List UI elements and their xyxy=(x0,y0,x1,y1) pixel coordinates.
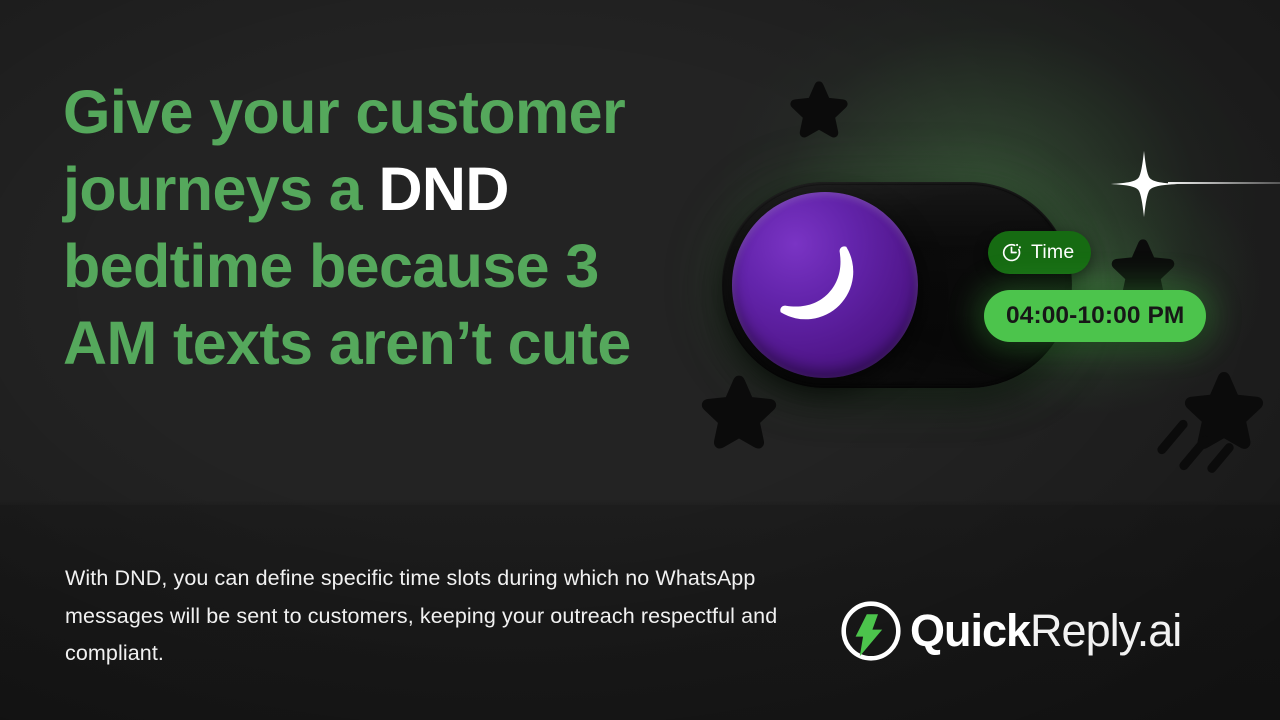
headline-part-2: bedtime because 3 AM texts aren’t cute xyxy=(63,232,631,377)
four-point-sparkle-icon xyxy=(1108,148,1180,220)
dnd-toggle[interactable] xyxy=(722,182,1072,388)
brand-logo[interactable]: QuickReply.ai xyxy=(836,595,1181,667)
brand-name-bold: Quick xyxy=(910,605,1030,657)
page-title: Give your customer journeys a DND bedtim… xyxy=(63,74,703,382)
headline-accent-dnd: DND xyxy=(378,155,508,223)
star-icon xyxy=(789,80,849,138)
shooting-star-icon xyxy=(1150,368,1270,480)
crescent-moon-icon xyxy=(766,226,884,344)
headline-part-1: Give your customer journeys a xyxy=(63,78,625,223)
quickreply-bolt-circle-logo-icon xyxy=(836,596,906,666)
time-range-value: 04:00-10:00 PM xyxy=(1006,302,1184,330)
toggle-knob[interactable] xyxy=(732,192,918,378)
brand-name-light: Reply.ai xyxy=(1030,605,1181,657)
sparkle-trail-line xyxy=(1168,182,1280,184)
time-badge-label: Time xyxy=(1031,241,1074,264)
time-range-pill[interactable]: 04:00-10:00 PM xyxy=(984,290,1206,342)
star-icon xyxy=(700,374,778,449)
promo-banner: Give your customer journeys a DND bedtim… xyxy=(0,0,1280,720)
body-description: With DND, you can define specific time s… xyxy=(65,560,805,673)
brand-logo-text: QuickReply.ai xyxy=(910,605,1181,657)
time-badge[interactable]: Time xyxy=(988,231,1091,274)
timer-clock-icon xyxy=(1001,242,1022,263)
